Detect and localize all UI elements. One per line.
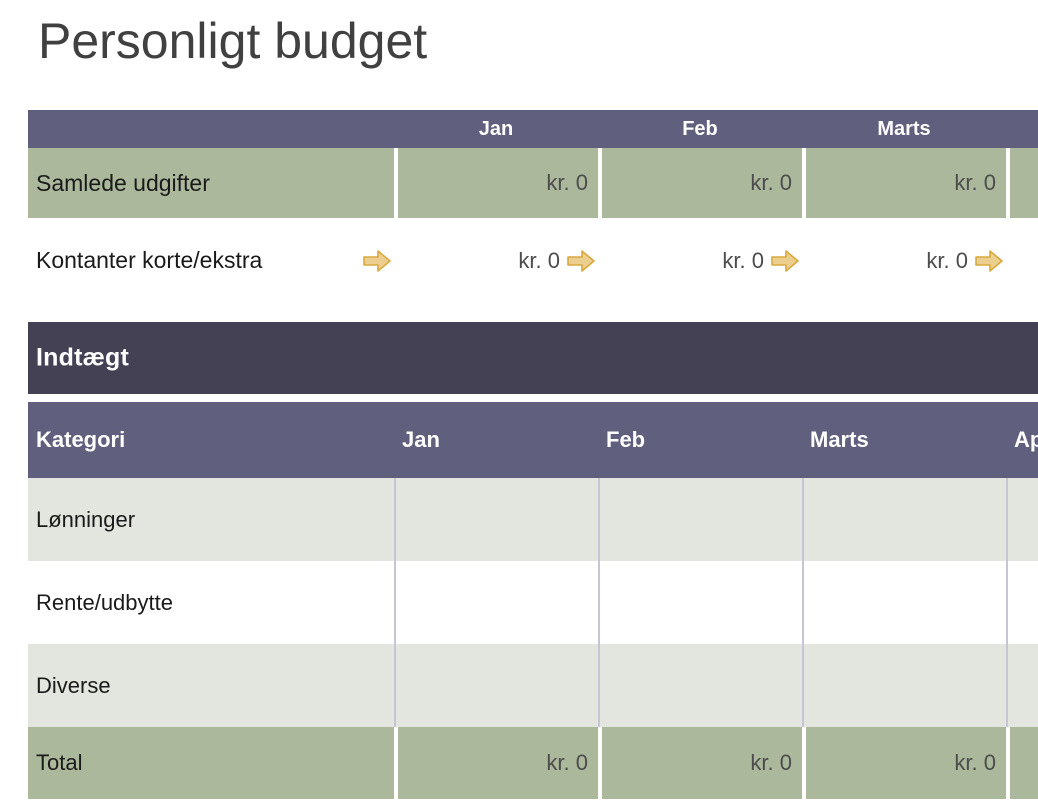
income-header-apr: Apr [1006,402,1038,478]
income-header-jan: Jan [394,402,598,478]
row-label-cell-kontanter: Kontanter korte/ekstra [28,218,394,303]
expense-header-marts: Marts [802,110,1006,148]
expense-header-label-col [28,110,394,148]
cell-rente-udbytte-jan[interactable] [394,561,598,644]
cell-diverse-apr[interactable] [1006,644,1038,727]
cell-kontanter-apr[interactable]: kr. 0 [1006,218,1038,303]
expense-header-feb: Feb [598,110,802,148]
table-row: Kontanter korte/ekstra kr. 0 [28,218,1038,303]
cell-value: kr. 0 [518,248,560,274]
cell-lonninger-apr[interactable] [1006,478,1038,561]
table-row: Diverse [28,644,1038,727]
right-arrow-icon [362,248,392,274]
cell-kontanter-feb[interactable]: kr. 0 [598,218,802,303]
cell-lonninger-jan[interactable] [394,478,598,561]
cell-lonninger-feb[interactable] [598,478,802,561]
row-label-total: Total [28,727,394,799]
income-table: Kategori Jan Feb Marts Apr Lønninger Ren… [28,402,1038,799]
cell-samlede-udgifter-apr[interactable]: kr. 0 [1006,148,1038,218]
cell-diverse-jan[interactable] [394,644,598,727]
cell-lonninger-marts[interactable] [802,478,1006,561]
table-row: Lønninger [28,478,1038,561]
row-label-rente-udbytte: Rente/udbytte [28,561,394,644]
row-label-diverse: Diverse [28,644,394,727]
right-arrow-icon [770,248,800,274]
table-row-total: Total kr. 0 kr. 0 kr. 0 kr. 0 [28,727,1038,799]
row-label-samlede-udgifter: Samlede udgifter [28,148,394,218]
expense-header-apr: Apr [1006,110,1038,148]
cell-diverse-marts[interactable] [802,644,1006,727]
cell-rente-udbytte-apr[interactable] [1006,561,1038,644]
right-arrow-icon [566,248,596,274]
income-header-row: Kategori Jan Feb Marts Apr [28,402,1038,478]
cell-kontanter-jan[interactable]: kr. 0 [394,218,598,303]
expense-header-row: Jan Feb Marts Apr [28,110,1038,148]
row-label-lonninger: Lønninger [28,478,394,561]
cell-rente-udbytte-feb[interactable] [598,561,802,644]
right-arrow-icon [974,248,1004,274]
page-title: Personligt budget [38,14,427,69]
table-row: Samlede udgifter kr. 0 kr. 0 kr. 0 kr. 0 [28,148,1038,218]
cell-total-marts[interactable]: kr. 0 [802,727,1006,799]
cell-samlede-udgifter-feb[interactable]: kr. 0 [598,148,802,218]
cell-total-feb[interactable]: kr. 0 [598,727,802,799]
cell-total-apr[interactable]: kr. 0 [1006,727,1038,799]
cell-rente-udbytte-marts[interactable] [802,561,1006,644]
income-section-band: Indtægt [28,322,1038,394]
expense-header-jan: Jan [394,110,598,148]
cell-diverse-feb[interactable] [598,644,802,727]
cell-value: kr. 0 [926,248,968,274]
income-section-title: Indtægt [36,344,129,373]
row-label-kontanter-korte-ekstra: Kontanter korte/ekstra [36,247,262,274]
income-header-marts: Marts [802,402,1006,478]
cell-total-jan[interactable]: kr. 0 [394,727,598,799]
income-header-kategori: Kategori [28,402,394,478]
cell-kontanter-marts[interactable]: kr. 0 [802,218,1006,303]
cell-samlede-udgifter-jan[interactable]: kr. 0 [394,148,598,218]
table-row: Rente/udbytte [28,561,1038,644]
income-header-feb: Feb [598,402,802,478]
expense-summary-table: Jan Feb Marts Apr Samlede udgifter kr. 0… [28,110,1038,303]
cell-samlede-udgifter-marts[interactable]: kr. 0 [802,148,1006,218]
cell-value: kr. 0 [722,248,764,274]
